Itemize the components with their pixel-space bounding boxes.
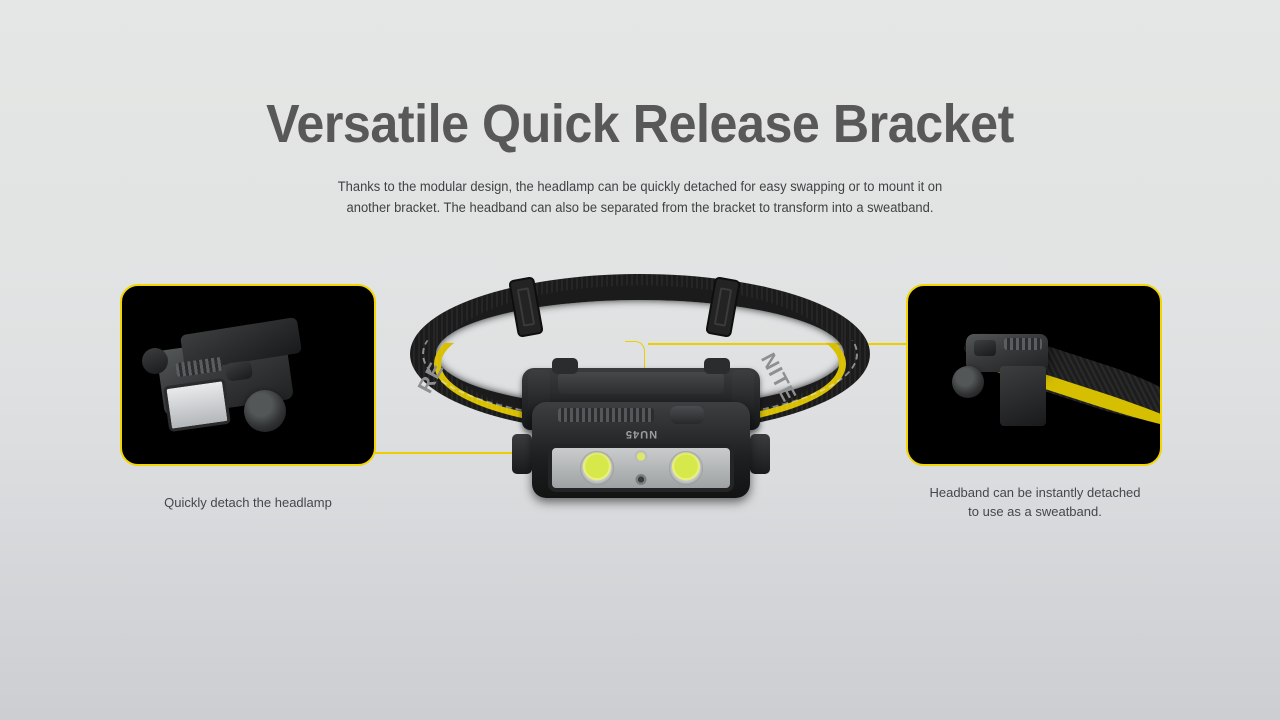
caption-right: Headband can be instantly detached to us… xyxy=(885,484,1185,522)
inset-photo-right xyxy=(906,284,1162,466)
bracket-tab-left xyxy=(552,358,578,374)
bracket-tab-right xyxy=(704,358,730,374)
bracket-top-panel xyxy=(558,372,724,394)
bracket-button xyxy=(974,340,996,356)
lamp-head: NU45 xyxy=(532,402,750,498)
subtitle-line-2: another bracket. The headband can also b… xyxy=(26,198,1255,219)
lamp-power-button xyxy=(670,406,704,424)
header: Versatile Quick Release Bracket Thanks t… xyxy=(0,96,1280,219)
lamp-grip-texture xyxy=(558,408,654,422)
inset-photo-left xyxy=(120,284,376,466)
side-knob xyxy=(244,390,286,432)
bracket-knob xyxy=(952,366,984,398)
page-subtitle: Thanks to the modular design, the headla… xyxy=(26,177,1255,219)
side-cap-left xyxy=(512,434,532,474)
led-emitter-right xyxy=(669,451,703,485)
auxiliary-led xyxy=(635,450,648,463)
caption-left-line-1: Quickly detach the headlamp xyxy=(98,494,398,513)
caption-right-line-2: to use as a sweatband. xyxy=(885,503,1185,522)
motion-sensor xyxy=(636,474,647,485)
bracket-grip xyxy=(1004,338,1042,350)
lamp-lens-window xyxy=(548,444,734,492)
subtitle-line-1: Thanks to the modular design, the headla… xyxy=(26,177,1255,198)
caption-right-line-1: Headband can be instantly detached xyxy=(885,484,1185,503)
bracket-clip xyxy=(1000,366,1046,426)
product-headlamp: RE NITE NU45 xyxy=(400,262,880,522)
product-model-label: NU45 xyxy=(532,428,750,440)
caption-left: Quickly detach the headlamp xyxy=(98,494,398,513)
page-title: Versatile Quick Release Bracket xyxy=(45,96,1235,153)
side-hinge xyxy=(142,348,168,374)
side-cap-right xyxy=(750,434,770,474)
lamp-lens xyxy=(163,378,231,432)
led-emitter-left xyxy=(580,451,614,485)
